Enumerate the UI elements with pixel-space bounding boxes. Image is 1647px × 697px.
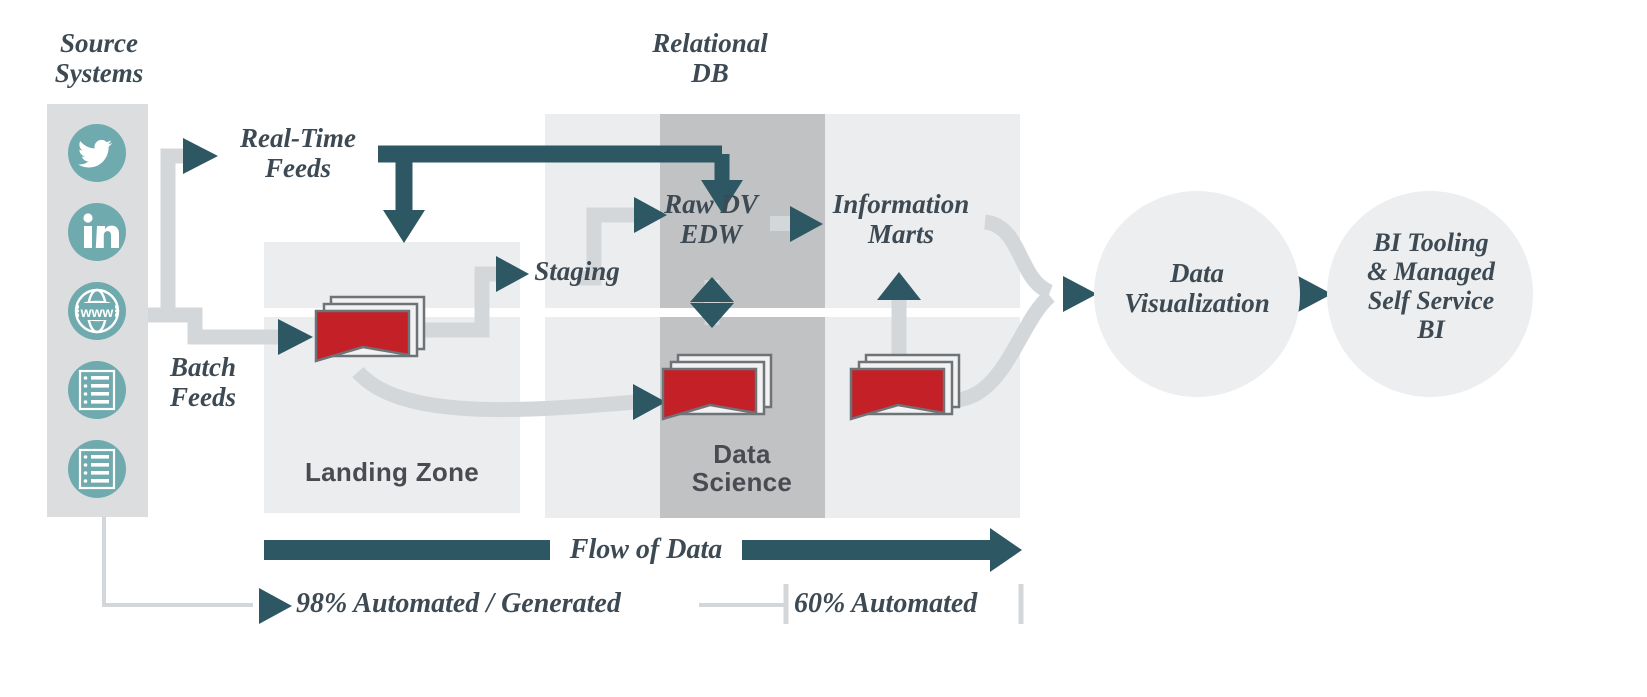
information-marts-label: Information Marts xyxy=(805,189,997,249)
twitter-icon[interactable] xyxy=(68,124,126,182)
bi-tooling-label: BI Tooling & Managed Self Service BI xyxy=(1335,228,1527,344)
relational-db-title: Relational DB xyxy=(610,28,810,88)
data-science-label: Data Science xyxy=(652,440,832,496)
arrow-to-data-visualization xyxy=(1063,276,1097,312)
arrow-realtime-into-landing xyxy=(383,210,425,243)
raw-dv-edw-label: Raw DV EDW xyxy=(641,189,781,249)
data-science-document-stack[interactable] xyxy=(663,355,771,419)
landing-zone-document-stack[interactable] xyxy=(316,297,424,361)
real-time-feeds-label: Real-Time Feeds xyxy=(218,123,378,183)
svg-text:www: www xyxy=(80,304,114,320)
diagram-canvas: www xyxy=(0,0,1647,697)
automation-right-label: 60% Automated xyxy=(794,588,1034,619)
pipe-source-bottom-drop xyxy=(104,517,253,605)
flow-of-data-bar-right xyxy=(742,528,1022,572)
staging-label: Staging xyxy=(512,256,642,286)
landing-zone-label: Landing Zone xyxy=(264,458,520,486)
www-globe-icon[interactable]: www xyxy=(68,282,126,340)
database-server-icon-1[interactable] xyxy=(68,361,126,419)
arrow-legend-automation xyxy=(259,588,292,624)
database-server-icon-2[interactable] xyxy=(68,440,126,498)
pipe-source-to-realtime xyxy=(148,156,195,315)
information-marts-document-stack[interactable] xyxy=(851,355,959,419)
flow-of-data-bar-left xyxy=(264,540,550,560)
data-visualization-label: Data Visualization xyxy=(1097,258,1297,318)
arrow-to-realtime-feeds xyxy=(183,138,218,174)
source-systems-title: Source Systems xyxy=(10,28,188,88)
automation-left-label: 98% Automated / Generated xyxy=(296,588,696,619)
arrow-to-bi-tooling xyxy=(1298,276,1332,312)
batch-feeds-label: Batch Feeds xyxy=(140,352,266,412)
flow-of-data-label: Flow of Data xyxy=(548,534,744,565)
linkedin-icon[interactable] xyxy=(68,203,126,261)
